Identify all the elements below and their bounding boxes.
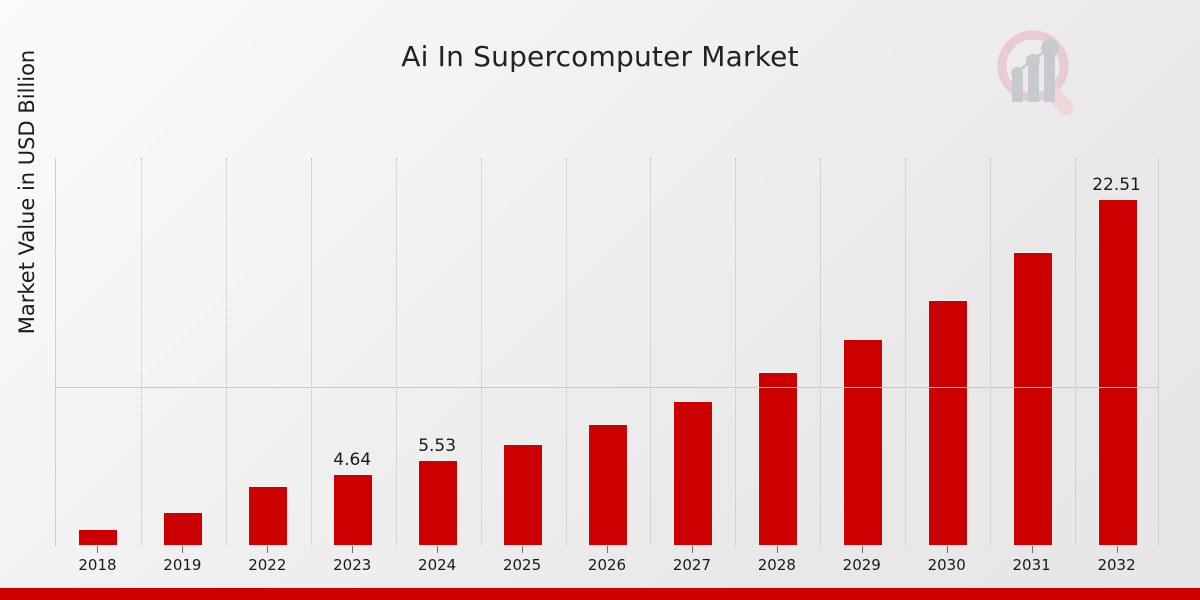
plot-area (55, 158, 1159, 546)
gridline (735, 158, 736, 546)
footer-accent-bar (0, 588, 1200, 600)
x-tick-label-2027: 2027 (673, 556, 711, 574)
bar-2022[interactable] (248, 486, 288, 545)
x-tick-label-2023: 2023 (333, 556, 371, 574)
bar-2019[interactable] (163, 512, 203, 545)
x-tick-mark-2032 (1117, 546, 1118, 553)
x-tick-label-2030: 2030 (928, 556, 966, 574)
bar-value-label-2024: 5.53 (397, 436, 477, 456)
x-tick-label-2022: 2022 (248, 556, 286, 574)
x-tick-mark-2024 (437, 546, 438, 553)
gridline (820, 158, 821, 546)
x-tick-mark-2025 (522, 546, 523, 553)
x-tick-mark-2030 (947, 546, 948, 553)
x-axis-baseline (55, 387, 1159, 388)
gridline (311, 158, 312, 546)
gridline (650, 158, 651, 546)
gridline (1075, 158, 1076, 546)
chart-page: Ai In Supercomputer Market Market Value … (0, 0, 1200, 600)
bar-2031[interactable] (1013, 252, 1053, 545)
bar-2030[interactable] (928, 300, 968, 545)
market-research-magnifier-logo (984, 22, 1094, 122)
x-tick-mark-2022 (267, 546, 268, 553)
bar-2029[interactable] (843, 339, 883, 545)
bar-2023[interactable] (333, 474, 373, 545)
gridline (396, 158, 397, 546)
bar-2032[interactable] (1098, 199, 1138, 545)
bar-2026[interactable] (588, 424, 628, 545)
x-tick-label-2028: 2028 (758, 556, 796, 574)
x-tick-mark-2019 (182, 546, 183, 553)
x-tick-label-2029: 2029 (843, 556, 881, 574)
gridline (226, 158, 227, 546)
gridline (481, 158, 482, 546)
bar-2024[interactable] (418, 460, 458, 545)
bar-2028[interactable] (758, 372, 798, 545)
x-tick-mark-2026 (607, 546, 608, 553)
x-tick-label-2025: 2025 (503, 556, 541, 574)
gridline (566, 158, 567, 546)
gridline (141, 158, 142, 546)
x-tick-mark-2027 (692, 546, 693, 553)
x-tick-mark-2029 (862, 546, 863, 553)
x-tick-mark-2028 (777, 546, 778, 553)
bar-2025[interactable] (503, 444, 543, 545)
bar-2027[interactable] (673, 401, 713, 545)
bar-2018[interactable] (78, 529, 118, 545)
bar-value-label-2023: 4.64 (312, 450, 392, 470)
x-tick-mark-2018 (97, 546, 98, 553)
x-tick-label-2024: 2024 (418, 556, 456, 574)
gridline (990, 158, 991, 546)
x-tick-label-2019: 2019 (163, 556, 201, 574)
x-tick-label-2032: 2032 (1097, 556, 1135, 574)
x-tick-label-2026: 2026 (588, 556, 626, 574)
x-tick-label-2018: 2018 (78, 556, 116, 574)
y-axis-label: Market Value in USD Billion (15, 0, 39, 387)
bar-value-label-2032: 22.51 (1077, 175, 1157, 195)
x-tick-mark-2023 (352, 546, 353, 553)
x-tick-label-2031: 2031 (1013, 556, 1051, 574)
x-tick-mark-2031 (1032, 546, 1033, 553)
gridline (905, 158, 906, 546)
